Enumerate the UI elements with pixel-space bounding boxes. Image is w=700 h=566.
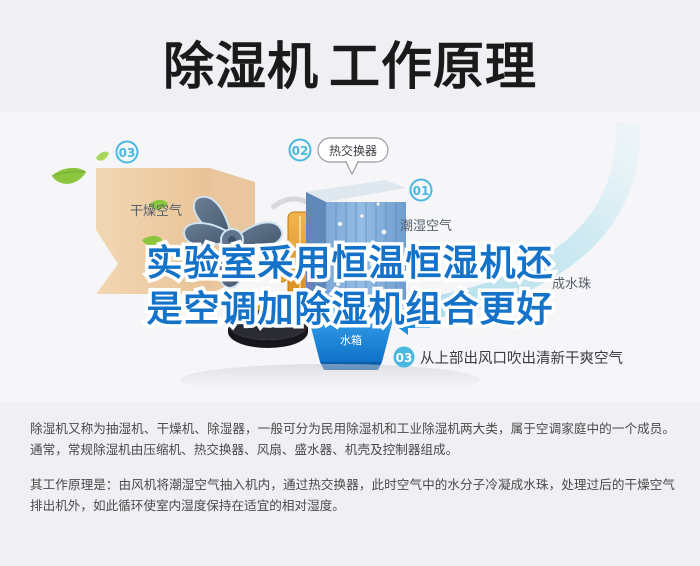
page-title: 除湿机工作原理 <box>163 41 537 92</box>
svg-text:02: 02 <box>292 144 309 158</box>
humid-air-label: 潮湿空气 <box>400 218 452 234</box>
illustration-svg: 水箱 03 干燥空气 02 热交换器 01 潮湿空气 成水珠 03 从上部出风口… <box>0 112 700 402</box>
dehumidifier-principle-illustration: 水箱 03 干燥空气 02 热交换器 01 潮湿空气 成水珠 03 从上部出风口… <box>0 112 700 402</box>
heat-exchanger-label: 热交换器 <box>329 143 377 158</box>
body-paragraph-1: 除湿机又称为抽湿机、干燥机、除湿器，一般可分为民用除湿机和工业除湿机两大类，属于… <box>30 418 675 460</box>
badge-03-outlet: 03 <box>394 347 415 368</box>
page-title-part2: 工作原理 <box>329 38 537 95</box>
condense-note: 成水珠 <box>552 277 591 292</box>
outlet-note: 从上部出风口吹出清新干爽空气 <box>420 350 623 367</box>
page-title-container: 除湿机工作原理 <box>0 26 700 106</box>
svg-text:03: 03 <box>396 351 413 365</box>
svg-text:01: 01 <box>413 184 430 198</box>
svg-text:03: 03 <box>119 146 136 160</box>
body-copy: 除湿机又称为抽湿机、干燥机、除湿器，一般可分为民用除湿机和工业除湿机两大类，属于… <box>30 418 675 516</box>
body-paragraph-2: 其工作原理是：由风机将潮湿空气抽入机内，通过热交换器，此时空气中的水分子冷凝成水… <box>30 474 675 516</box>
page-title-part1: 除湿机 <box>163 38 319 95</box>
dry-air-label: 干燥空气 <box>130 203 182 219</box>
water-tank-label: 水箱 <box>340 333 362 347</box>
